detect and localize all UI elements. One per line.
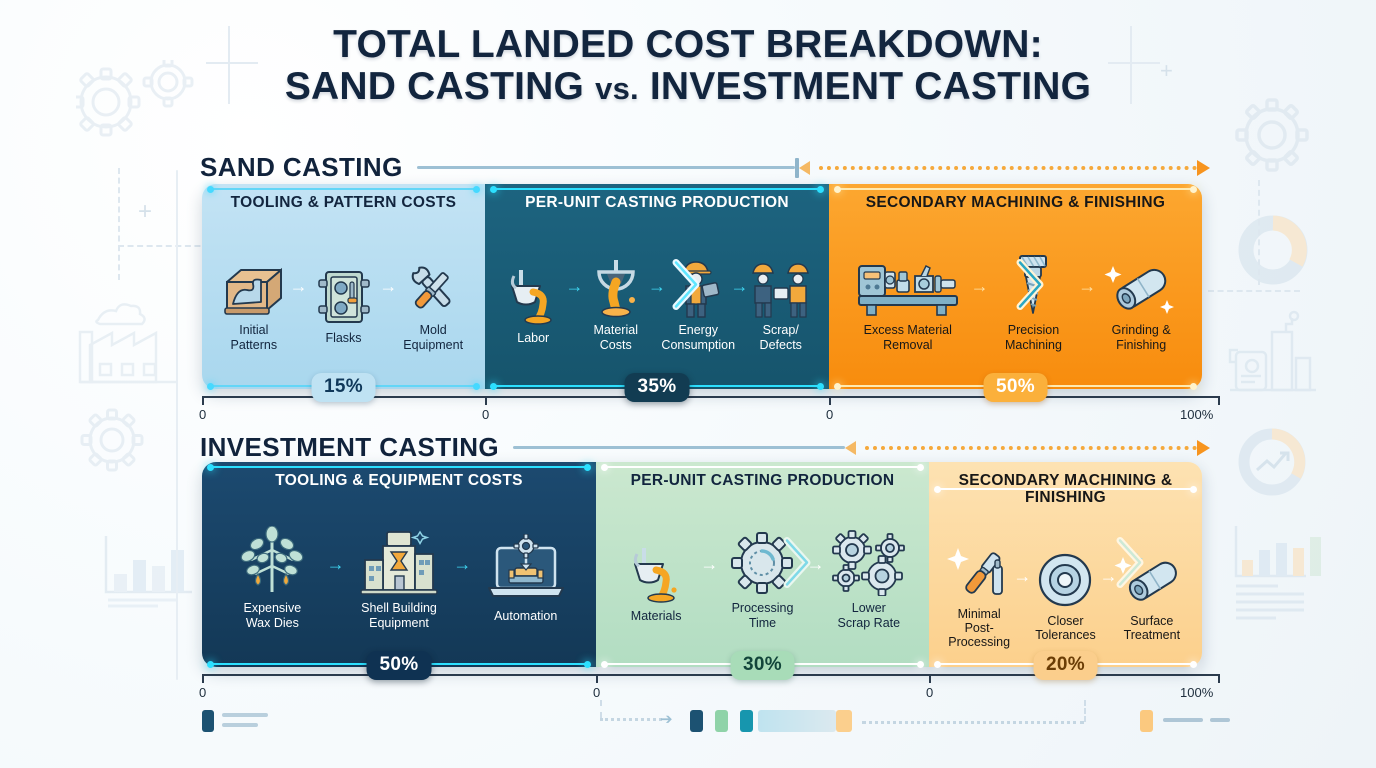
- gear-timer-icon: [729, 526, 795, 596]
- axis-tick: [485, 396, 487, 405]
- flask-box-icon: [317, 256, 371, 326]
- polished-part-icon: [1103, 248, 1179, 318]
- pattern-mold-icon: [223, 248, 285, 318]
- tolerance-disc-icon: [1036, 539, 1094, 609]
- axis-tick: [202, 674, 204, 683]
- worker-icon: [675, 248, 721, 318]
- percent-badge: 30%: [730, 651, 795, 680]
- arrow-icon: →: [648, 276, 666, 297]
- infographic-canvas: + + TOTAL LANDED COST BREAKDOWN: SAND CA…: [0, 0, 1376, 768]
- axis-label: 100%: [1180, 407, 1213, 422]
- frame-line-left: [176, 170, 178, 680]
- axis-label: 0: [926, 685, 933, 700]
- glow-bracket-top: [210, 188, 477, 190]
- panel-items: Excess Material Removal → Precision Mach…: [839, 217, 1192, 381]
- item-labor[interactable]: Labor: [501, 256, 566, 345]
- section-title-investment-casting: INVESTMENT CASTING: [200, 432, 499, 463]
- gears-cluster-icon: [830, 526, 908, 596]
- wax-tree-icon: [235, 526, 309, 596]
- glow-bracket-top: [837, 188, 1194, 190]
- panel-per-unit-casting-production-sand[interactable]: PER-UNIT CASTING PRODUCTION Labor → Mate…: [485, 184, 829, 389]
- item-label: Surface Treatment: [1124, 614, 1181, 643]
- item-label: Excess Material Removal: [864, 323, 952, 352]
- panel-secondary-machining-finishing-investment[interactable]: SECONDARY MACHINING & FINISHING Minimal …: [929, 462, 1202, 667]
- percent-badge: 50%: [983, 373, 1048, 402]
- item-precision-machining[interactable]: Precision Machining: [989, 248, 1079, 352]
- percent-badge: 35%: [625, 373, 690, 402]
- connector-dot-head-arrow: [1197, 440, 1210, 456]
- legend-swatch: [202, 710, 214, 732]
- sparkle-tool-icon: [946, 532, 1012, 602]
- connector-dotted-line: [819, 166, 1197, 170]
- item-expensive-wax-dies[interactable]: Expensive Wax Dies: [218, 526, 327, 630]
- item-label: Scrap/ Defects: [760, 323, 802, 352]
- item-label: Materials: [631, 609, 682, 623]
- percent-badge: 20%: [1033, 651, 1098, 680]
- connector-dotted-line: [865, 446, 1197, 450]
- item-label: Flasks: [325, 331, 361, 345]
- legend-line: [1210, 718, 1230, 722]
- legend-swatch: [690, 710, 703, 732]
- panel-title: TOOLING & EQUIPMENT COSTS: [212, 472, 586, 489]
- item-label: Automation: [494, 609, 557, 623]
- blueprint-line-vertical-left: [118, 168, 120, 280]
- axis-tick: [202, 396, 204, 405]
- legend-line: [222, 713, 268, 717]
- blueprint-line-horizontal-left: [118, 245, 210, 247]
- panel-title: SECONDARY MACHINING & FINISHING: [839, 194, 1192, 211]
- legend-gradient-swatch: [758, 710, 836, 732]
- item-flasks[interactable]: Flasks: [308, 256, 380, 345]
- connector-dot-head-arrow: [1197, 160, 1210, 176]
- crosshair-plus-left: +: [138, 200, 152, 224]
- legend-line: [1163, 718, 1203, 722]
- page-title: TOTAL LANDED COST BREAKDOWN: SAND CASTIN…: [0, 24, 1376, 108]
- arrow-icon: →: [731, 276, 749, 297]
- item-label: Material Costs: [594, 323, 638, 352]
- factory-building-icon: [359, 526, 439, 596]
- section-header-sand-casting: SAND CASTING: [200, 152, 1210, 183]
- lathe-machine-icon: [853, 248, 963, 318]
- arrow-icon: →: [971, 276, 989, 297]
- glow-bracket-top: [210, 466, 588, 468]
- axis-tick: [596, 674, 598, 683]
- glow-bracket-top: [937, 488, 1194, 490]
- legend-guide-left: [600, 700, 602, 718]
- item-grinding-finishing[interactable]: Grinding & Finishing: [1096, 248, 1186, 352]
- panel-title: PER-UNIT CASTING PRODUCTION: [606, 472, 919, 489]
- title-vs: vs.: [595, 71, 639, 106]
- item-label: Closer Tolerances: [1035, 614, 1095, 643]
- item-energy-consumption[interactable]: Energy Consumption: [666, 248, 731, 352]
- item-scrap-defects[interactable]: Scrap/ Defects: [749, 248, 814, 352]
- axis-tick: [929, 674, 931, 683]
- item-label: Mold Equipment: [403, 323, 463, 352]
- connector-dot-tail-arrow: [845, 441, 856, 455]
- panel-secondary-machining-finishing-sand[interactable]: SECONDARY MACHINING & FINISHING Excess M…: [829, 184, 1202, 389]
- panel-items: Labor → Material Costs → Energy Consumpt…: [495, 217, 819, 381]
- axis-tick: [1218, 674, 1220, 683]
- legend-guide-right: [1084, 700, 1086, 722]
- bar-investment-casting: TOOLING & EQUIPMENT COSTS Expensive Wax …: [202, 462, 1202, 667]
- blueprint-line-horizontal-right: [1208, 290, 1300, 292]
- item-label: Labor: [517, 331, 549, 345]
- arrow-icon: →: [807, 554, 825, 575]
- ladle-pour-icon: [502, 256, 564, 326]
- molten-pour-icon: [585, 248, 647, 318]
- arrow-icon: →: [1013, 566, 1031, 587]
- legend-swatch: [740, 710, 753, 732]
- percent-badge: 15%: [311, 373, 376, 402]
- item-initial-patterns[interactable]: Initial Patterns: [218, 248, 290, 352]
- bar-sand-casting: TOOLING & PATTERN COSTS Initial Patterns…: [202, 184, 1202, 389]
- title-line-1: TOTAL LANDED COST BREAKDOWN:: [0, 24, 1376, 66]
- title-line-2-part-b: INVESTMENT CASTING: [639, 65, 1091, 108]
- connector-dot-tail-arrow: [799, 161, 810, 175]
- axis-tick: [829, 396, 831, 405]
- item-label: Initial Patterns: [231, 323, 278, 352]
- legend-dotted-left: [600, 718, 662, 721]
- panel-tooling-equipment-costs[interactable]: TOOLING & EQUIPMENT COSTS Expensive Wax …: [202, 462, 596, 667]
- panel-title: PER-UNIT CASTING PRODUCTION: [495, 194, 819, 211]
- panel-items: Initial Patterns → Flasks → Mold Equipme…: [212, 217, 475, 381]
- item-label: Grinding & Finishing: [1112, 323, 1171, 352]
- arrow-icon: →: [290, 276, 308, 297]
- item-materials[interactable]: Materials: [612, 534, 700, 623]
- arrow-icon: →: [566, 276, 584, 297]
- axis-label: 0: [482, 407, 489, 422]
- item-label: Minimal Post- Processing: [945, 607, 1013, 650]
- legend-dotted-right: [862, 721, 1084, 724]
- item-label: Expensive Wax Dies: [243, 601, 301, 630]
- axis-label: 0: [826, 407, 833, 422]
- item-label: Energy Consumption: [661, 323, 735, 352]
- item-surface-treatment[interactable]: Surface Treatment: [1118, 539, 1186, 643]
- glow-bracket-top: [604, 466, 921, 468]
- item-closer-tolerances[interactable]: Closer Tolerances: [1031, 539, 1099, 643]
- legend-swatch: [715, 710, 728, 732]
- glow-bracket-top: [493, 188, 821, 190]
- drill-bit-icon: [1013, 248, 1053, 318]
- item-minimal-post-processing[interactable]: Minimal Post- Processing: [945, 532, 1013, 650]
- ladle-pour-icon: [625, 534, 687, 604]
- arrow-icon: →: [453, 554, 471, 575]
- two-workers-icon: [748, 248, 814, 318]
- item-automation[interactable]: Automation: [471, 534, 580, 623]
- connector-solid-line: [513, 446, 845, 449]
- item-excess-material-removal[interactable]: Excess Material Removal: [845, 248, 971, 352]
- connector-sand-casting: [417, 159, 1210, 177]
- connector-investment-casting: [513, 439, 1210, 457]
- blueprint-line-vertical-right: [1258, 180, 1260, 285]
- section-title-sand-casting: SAND CASTING: [200, 152, 403, 183]
- footer-legend: ➔: [0, 704, 1376, 744]
- legend-swatch: [1140, 710, 1153, 732]
- gear-decoration-left-lower: [72, 400, 152, 480]
- axis-label: 100%: [1180, 685, 1213, 700]
- title-line-2: SAND CASTING vs. INVESTMENT CASTING: [0, 66, 1376, 108]
- panel-tooling-pattern-costs[interactable]: TOOLING & PATTERN COSTS Initial Patterns…: [202, 184, 485, 389]
- arrow-icon: →: [700, 554, 718, 575]
- arrow-icon: →: [327, 554, 345, 575]
- item-processing-time[interactable]: Processing Time: [718, 526, 806, 630]
- automation-laptop-icon: [485, 534, 567, 604]
- axis-label: 0: [199, 685, 206, 700]
- item-label: Precision Machining: [1005, 323, 1062, 352]
- polished-part-icon: [1114, 539, 1190, 609]
- percent-badge: 50%: [367, 651, 432, 680]
- item-mold-equipment[interactable]: Mold Equipment: [397, 248, 469, 352]
- panel-items: Minimal Post- Processing → Closer Tolera…: [939, 513, 1192, 659]
- panel-items: Materials → Processing Time → Lower Scra…: [606, 495, 919, 659]
- factory-decoration-left: [78, 290, 188, 390]
- item-label: Processing Time: [732, 601, 794, 630]
- item-shell-building-equipment[interactable]: Shell Building Equipment: [345, 526, 454, 630]
- panel-per-unit-casting-production-investment[interactable]: PER-UNIT CASTING PRODUCTION Materials → …: [596, 462, 929, 667]
- axis-label: 0: [199, 407, 206, 422]
- section-header-investment-casting: INVESTMENT CASTING: [200, 432, 1210, 463]
- arrow-icon: →: [1078, 276, 1096, 297]
- arrow-icon: →: [379, 276, 397, 297]
- bar-chart-decoration-right: [1228, 520, 1328, 630]
- panel-title: TOOLING & PATTERN COSTS: [212, 194, 475, 211]
- growth-chart-decoration-right: [1230, 420, 1315, 505]
- axis-tick: [1218, 396, 1220, 405]
- axis-label: 0: [593, 685, 600, 700]
- connector-solid-line: [417, 166, 795, 169]
- item-label: Lower Scrap Rate: [838, 601, 901, 630]
- bar-chart-decoration-left: [100, 530, 200, 610]
- title-line-2-part-a: SAND CASTING: [285, 65, 595, 108]
- item-lower-scrap-rate[interactable]: Lower Scrap Rate: [825, 526, 913, 630]
- legend-line: [222, 723, 258, 727]
- panel-items: Expensive Wax Dies → Shell Building Equi…: [212, 495, 586, 659]
- item-material-costs[interactable]: Material Costs: [584, 248, 649, 352]
- wrench-screwdriver-icon: [402, 248, 464, 318]
- item-label: Shell Building Equipment: [361, 601, 437, 630]
- plant-decoration-right: [1228, 310, 1318, 400]
- donut-chart-decoration-right: [1233, 210, 1313, 290]
- legend-swatch: [836, 710, 852, 732]
